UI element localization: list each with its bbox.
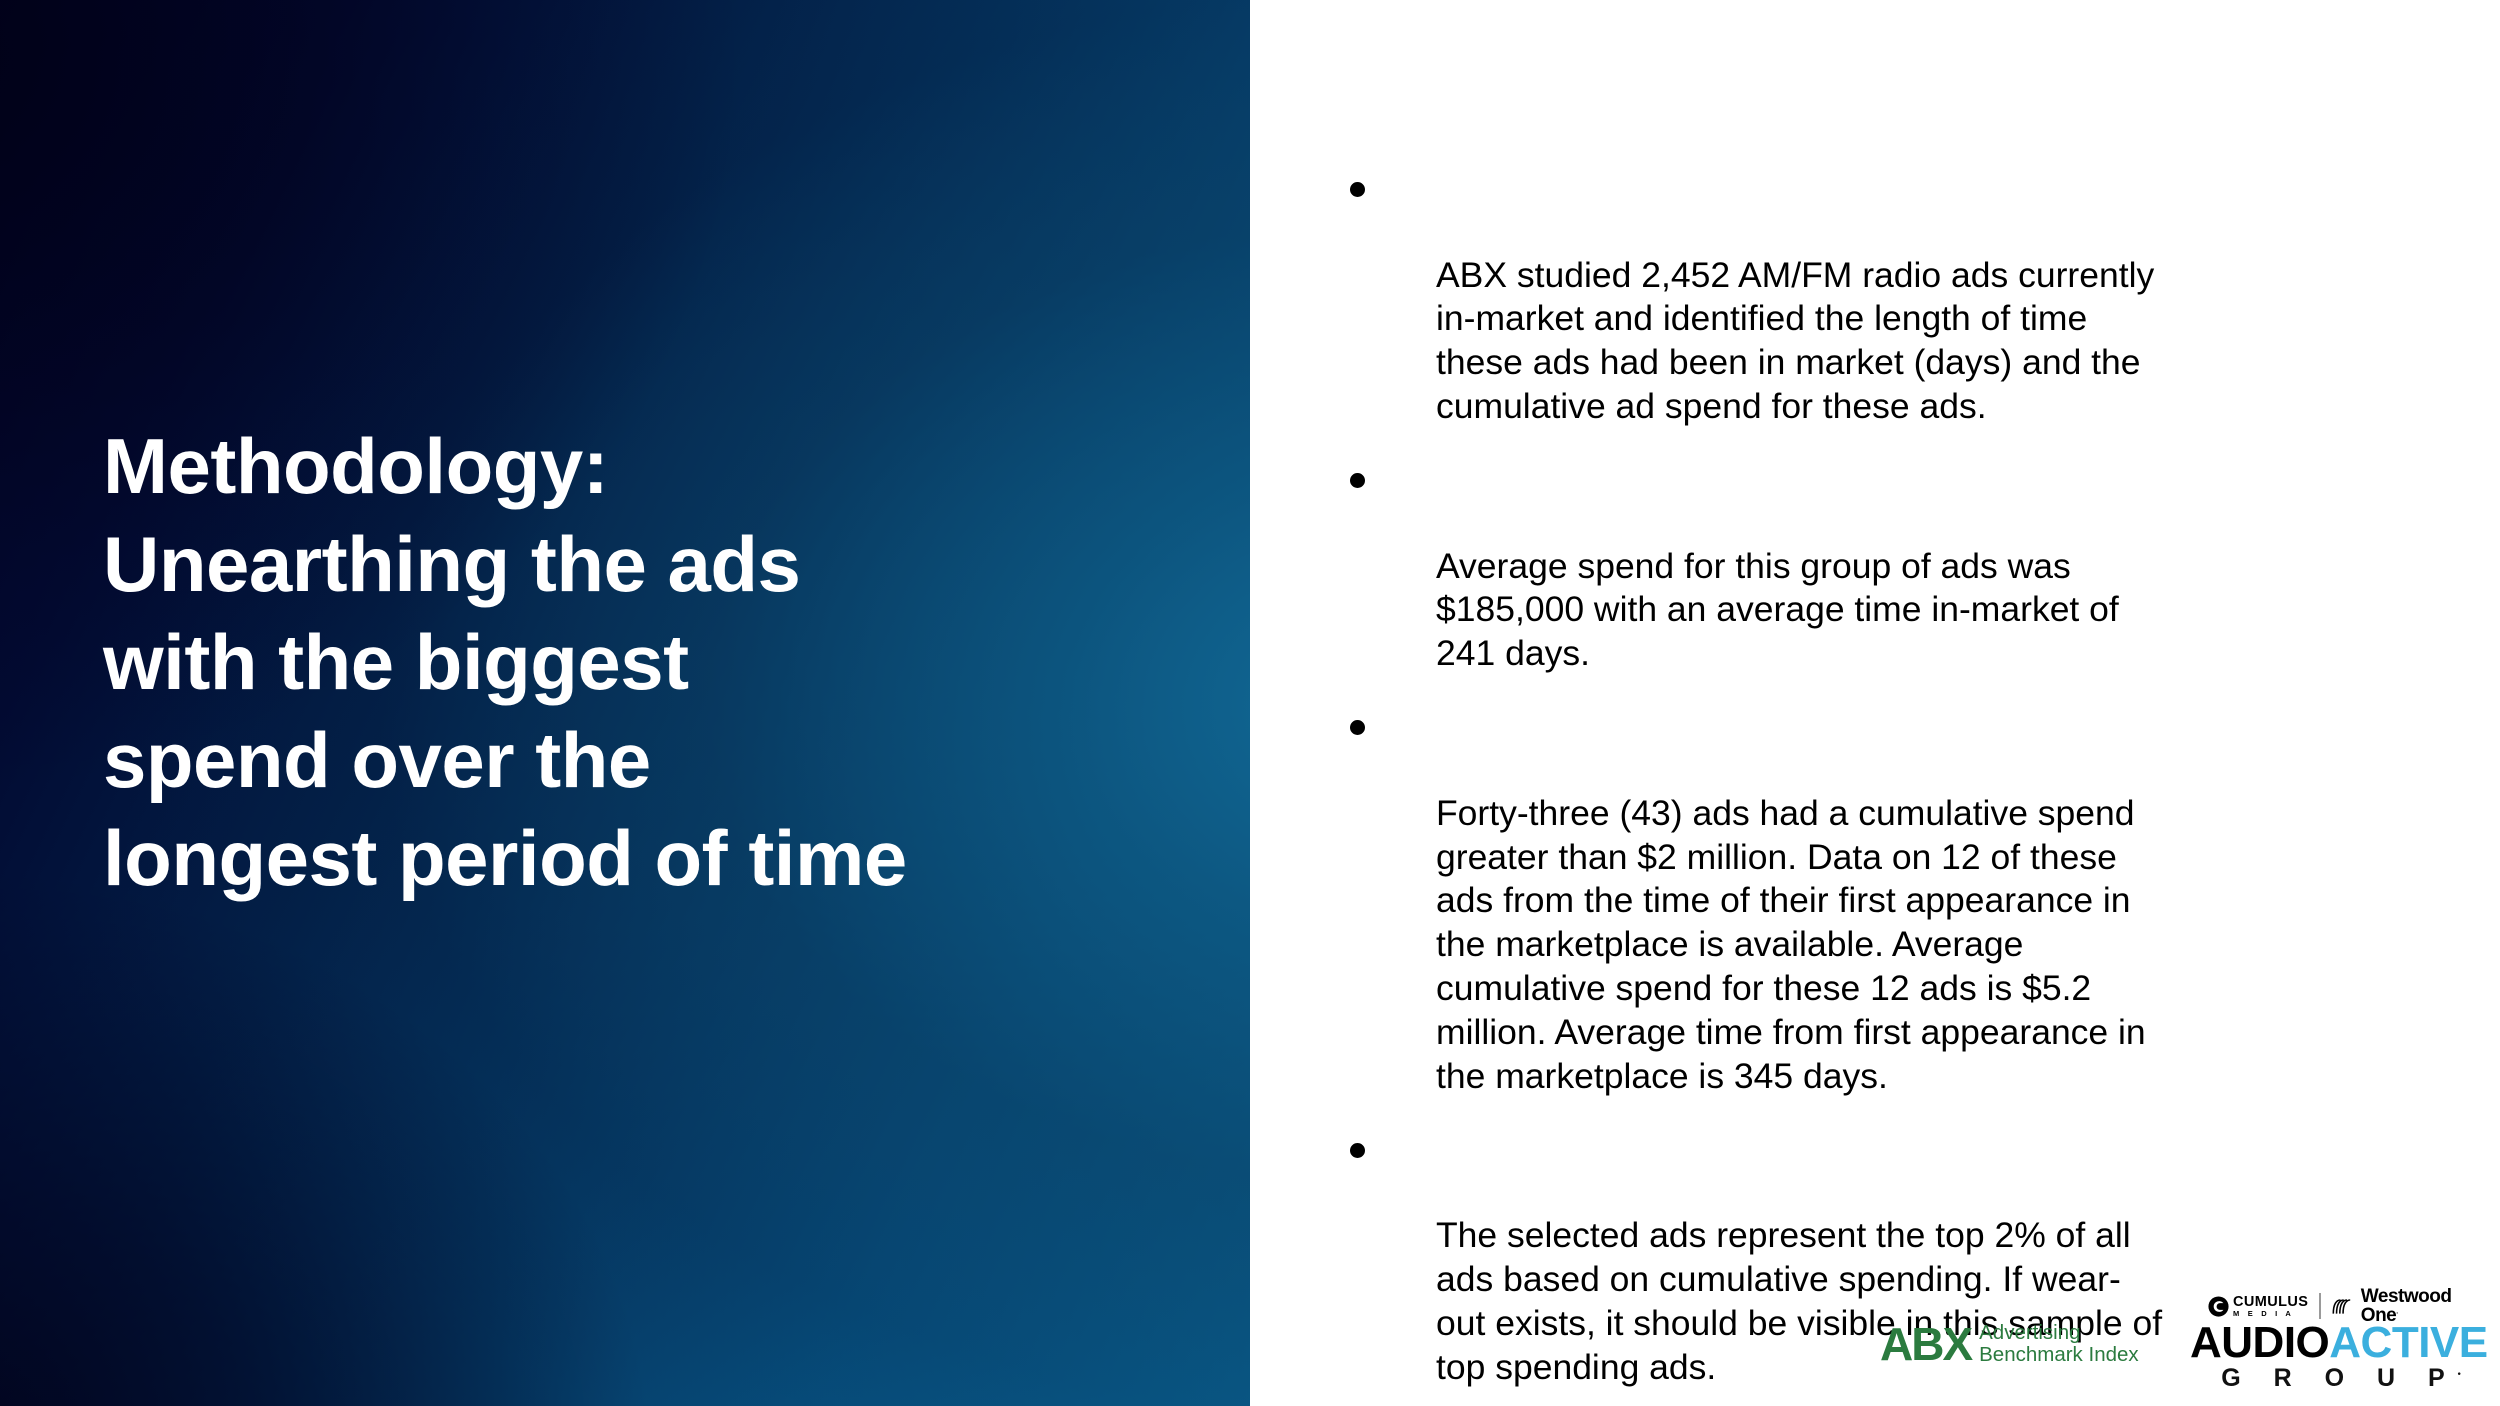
bullet-dot-icon (1350, 473, 1365, 488)
abx-tagline: Advertising Benchmark Index (1979, 1322, 2139, 1365)
list-item: Forty-three (43) ads had a cumulative sp… (1328, 704, 2428, 1098)
cumulus-media-sub: M E D I A (2233, 1310, 2308, 1318)
cumulus-text-block: CUMULUS M E D I A (2233, 1295, 2308, 1318)
list-item: Average spend for this group of ads was … (1328, 457, 2428, 676)
logo-divider (2319, 1293, 2321, 1319)
bullet-list: ABX studied 2,452 AM/FM radio ads curren… (1328, 166, 2428, 1390)
abx-logo: ABX Advertising Benchmark Index (1880, 1321, 2139, 1367)
list-item-text: Forty-three (43) ads had a cumulative sp… (1436, 793, 2146, 1096)
cumulus-circle-icon (2208, 1296, 2229, 1317)
aag-audio-text: AUDIO (2190, 1318, 2329, 1367)
title-panel: Methodology: Unearthing the ads with the… (0, 0, 1250, 1406)
bullet-dot-icon (1350, 720, 1365, 735)
aag-parent-brands: CUMULUS M E D I A (2208, 1293, 2480, 1319)
audio-active-group-logo: CUMULUS M E D I A (2190, 1293, 2480, 1393)
westwood-one-tm: . (2396, 1309, 2398, 1316)
list-item-text: Average spend for this group of ads was … (1436, 546, 2119, 674)
bullet-dot-icon (1350, 1143, 1365, 1158)
list-item: ABX studied 2,452 AM/FM radio ads curren… (1328, 166, 2428, 429)
aag-group-line: G R O U P• (2190, 1364, 2480, 1393)
westwood-one-wave-icon (2332, 1298, 2358, 1315)
logo-strip: ABX Advertising Benchmark Index CUMULUS … (1880, 1293, 2480, 1393)
aag-group-tm: • (2458, 1369, 2461, 1379)
presentation-slide: Methodology: Unearthing the ads with the… (0, 0, 2500, 1406)
aag-group-text: G R O U P (2221, 1364, 2457, 1392)
aag-wordmark: AUDIOACTIVE (2190, 1321, 2480, 1366)
list-item-text: ABX studied 2,452 AM/FM radio ads curren… (1436, 255, 2154, 426)
bullet-dot-icon (1350, 182, 1365, 197)
cumulus-media-logo: CUMULUS M E D I A (2208, 1295, 2308, 1318)
content-panel: ABX studied 2,452 AM/FM radio ads curren… (1250, 0, 2500, 1406)
page-title: Methodology: Unearthing the ads with the… (103, 418, 1183, 907)
abx-wordmark: ABX (1880, 1321, 1971, 1367)
cumulus-wordmark: CUMULUS (2233, 1295, 2308, 1310)
aag-active-text: ACTIVE (2329, 1318, 2487, 1367)
